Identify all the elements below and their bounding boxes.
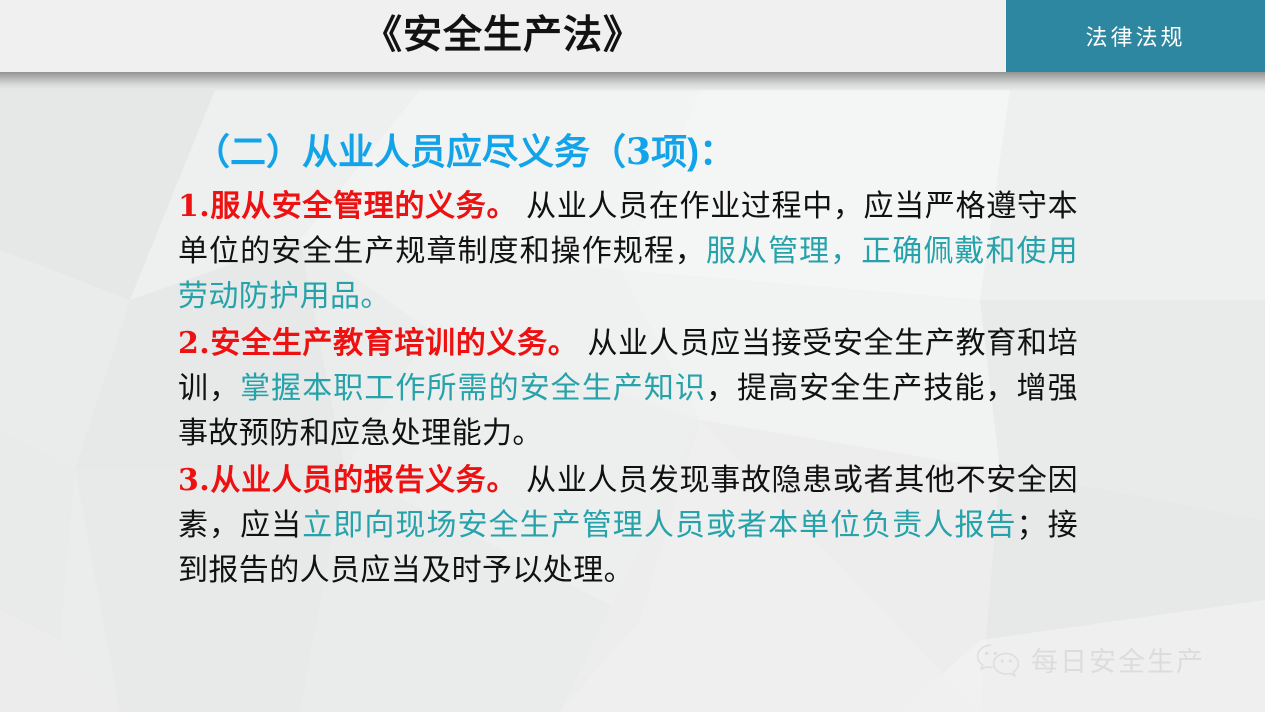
obligation-3-lead: 3.从业人员的报告义务。 bbox=[178, 464, 517, 497]
obligation-2-number: 2. bbox=[178, 326, 210, 361]
section-heading: （二）从业人员应尽义务（3项)： bbox=[194, 128, 1078, 176]
slide-root: 《安全生产法》 法律法规 （二）从业人员应尽义务（3项)： 1.服从安全管理的义… bbox=[0, 0, 1265, 712]
section-heading-count: 3 bbox=[626, 131, 651, 173]
obligation-1-body-b: 。 bbox=[360, 280, 390, 313]
obligation-1-number: 1. bbox=[178, 189, 210, 224]
header-shadow-divider bbox=[0, 72, 1265, 94]
obligation-1-lead-text: 服从安全管理的义务。 bbox=[210, 190, 517, 223]
obligation-item-2: 2.安全生产教育培训的义务。 从业人员应当接受安全生产教育和培训，掌握本职工作所… bbox=[178, 321, 1078, 456]
slide-content: （二）从业人员应尽义务（3项)： 1.服从安全管理的义务。 从业人员在作业过程中… bbox=[178, 128, 1078, 595]
header-category-label: 法律法规 bbox=[1006, 20, 1265, 52]
section-heading-suffix: 项)： bbox=[651, 131, 735, 172]
obligation-3-lead-text: 从业人员的报告义务。 bbox=[210, 464, 517, 497]
page-title: 《安全生产法》 bbox=[0, 6, 1006, 66]
wechat-icon bbox=[975, 642, 1021, 678]
obligation-2-lead: 2.安全生产教育培训的义务。 bbox=[178, 327, 578, 360]
obligation-3-highlight: 立即向现场安全生产管理人员或者本单位负责人报告 bbox=[302, 509, 1016, 542]
obligation-1-lead: 1.服从安全管理的义务。 bbox=[178, 190, 517, 223]
watermark-text: 每日安全生产 bbox=[1031, 640, 1205, 679]
obligation-3-number: 3. bbox=[178, 463, 210, 498]
header-category-tab[interactable]: 法律法规 bbox=[1006, 0, 1265, 72]
watermark: 每日安全生产 bbox=[975, 640, 1205, 679]
obligation-item-1: 1.服从安全管理的义务。 从业人员在作业过程中，应当严格遵守本单位的安全生产规章… bbox=[178, 184, 1078, 319]
obligation-2-lead-text: 安全生产教育培训的义务。 bbox=[210, 327, 578, 360]
obligation-2-highlight: 掌握本职工作所需的安全生产知识 bbox=[240, 372, 706, 405]
section-heading-prefix: （二）从业人员应尽义务（ bbox=[194, 131, 626, 172]
obligation-item-3: 3.从业人员的报告义务。 从业人员发现事故隐患或者其他不安全因素，应当立即向现场… bbox=[178, 458, 1078, 593]
